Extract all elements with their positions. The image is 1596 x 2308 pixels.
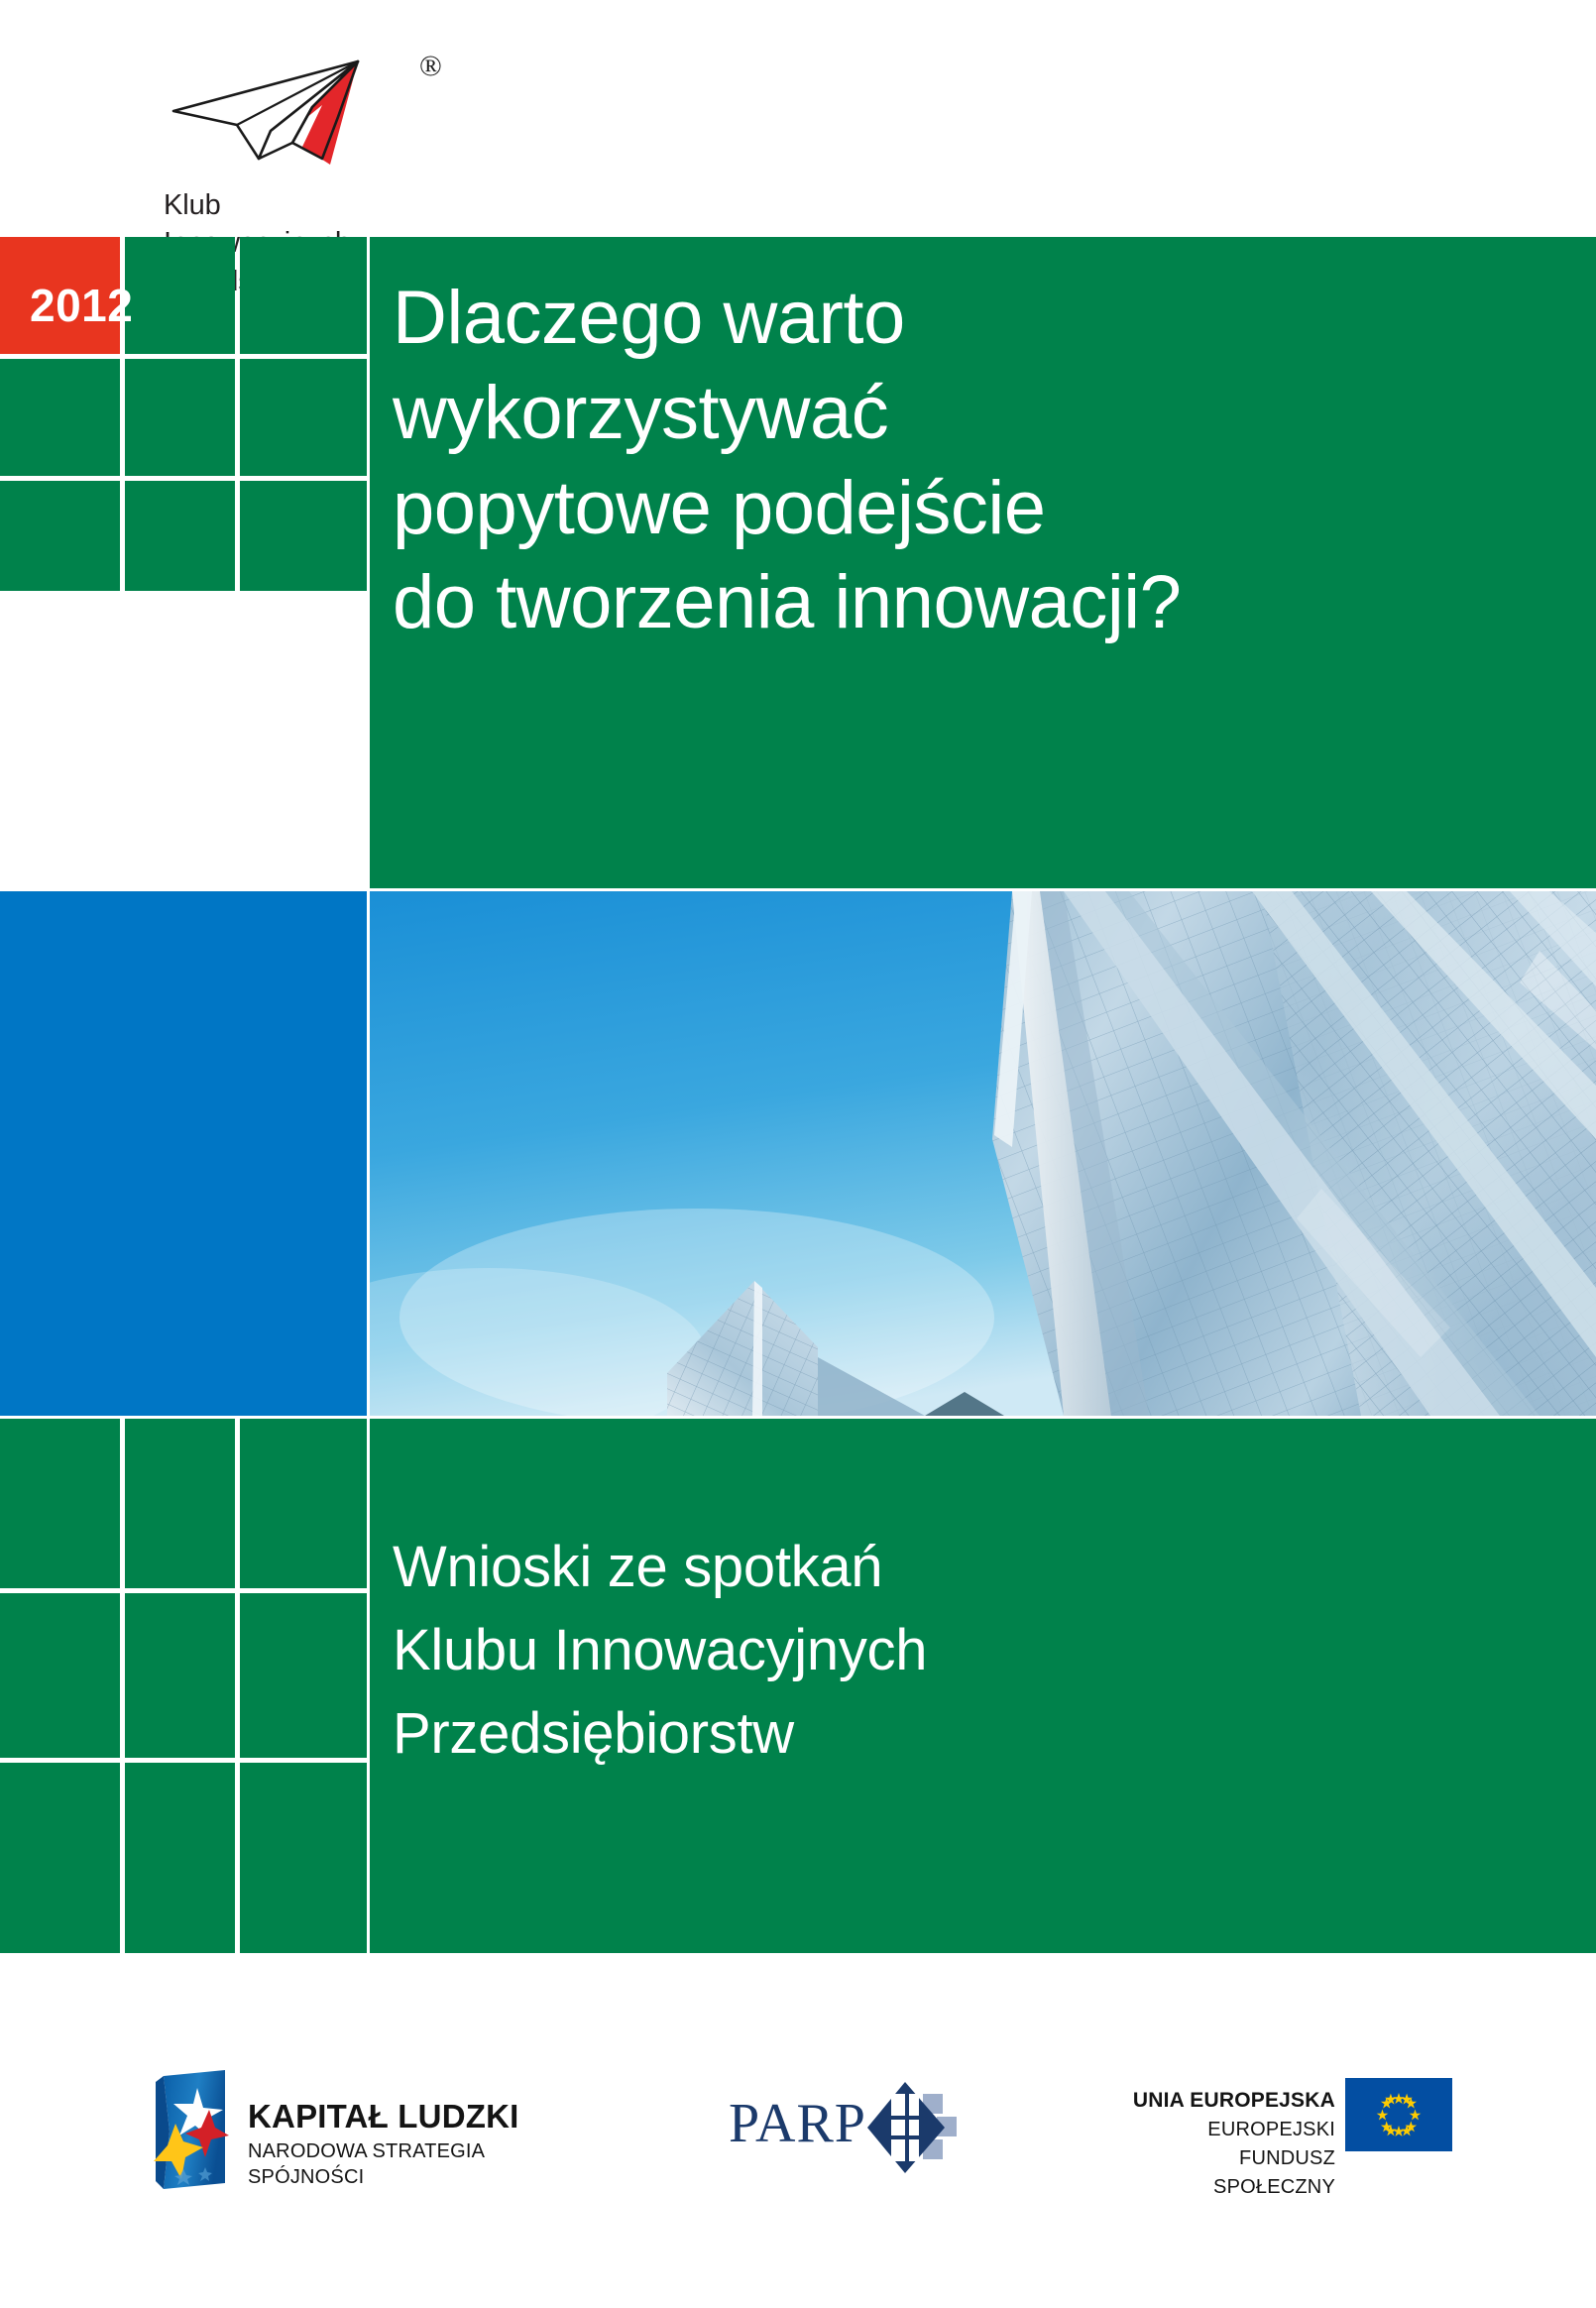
page-title: Dlaczego warto wykorzystywać popytowe po… — [393, 271, 1572, 650]
top-color-grid: 2012 — [0, 237, 367, 888]
bgrid-cell-r1c1 — [0, 1419, 120, 1588]
subtitle-line-3: Przedsiębiorstw — [393, 1692, 1562, 1776]
unia-europejska-line-2: EUROPEJSKI — [1125, 2116, 1335, 2144]
bgrid-cell-r3c3 — [240, 1763, 367, 1953]
registered-trademark-icon: ® — [419, 52, 442, 81]
cover-photo-skyscrapers — [370, 891, 1596, 1416]
blue-accent-block — [0, 891, 367, 1416]
title-line-1: Dlaczego warto — [393, 271, 1572, 366]
page-subtitle: Wnioski ze spotkań Klubu Innowacyjnych P… — [393, 1526, 1562, 1776]
unia-europejska-wordmark: UNIA EUROPEJSKA EUROPEJSKI FUNDUSZ SPOŁE… — [1125, 2086, 1335, 2202]
title-line-4: do tworzenia innowacji? — [393, 555, 1572, 650]
bgrid-cell-r2c3 — [240, 1593, 367, 1758]
subtitle-line-2: Klubu Innowacyjnych — [393, 1609, 1562, 1692]
bgrid-cell-r2c2 — [125, 1593, 235, 1758]
grid-cell-r2c3 — [240, 359, 367, 476]
paper-plane-icon — [164, 48, 421, 176]
subtitle-panel: Wnioski ze spotkań Klubu Innowacyjnych P… — [370, 1419, 1596, 1953]
parp-logo: PARP — [729, 2074, 942, 2183]
title-line-3: popytowe podejście — [393, 461, 1572, 556]
subtitle-line-1: Wnioski ze spotkań — [393, 1526, 1562, 1609]
grid-cell-r2c2 — [125, 359, 235, 476]
title-panel: Dlaczego warto wykorzystywać popytowe po… — [370, 237, 1596, 888]
parp-wordmark: PARP — [729, 2096, 866, 2151]
bgrid-cell-r1c2 — [125, 1419, 235, 1588]
parp-diamond-icon — [867, 2080, 957, 2175]
bgrid-cell-r2c1 — [0, 1593, 120, 1758]
unia-europejska-logo: UNIA EUROPEJSKA EUROPEJSKI FUNDUSZ SPOŁE… — [1125, 2072, 1452, 2191]
eu-flag-stars-icon — [1345, 2078, 1452, 2151]
title-line-2: wykorzystywać — [393, 366, 1572, 461]
bgrid-cell-r3c2 — [125, 1763, 235, 1953]
unia-europejska-line-3: FUNDUSZ SPOŁECZNY — [1125, 2144, 1335, 2202]
unia-europejska-line-1: UNIA EUROPEJSKA — [1125, 2086, 1335, 2116]
bgrid-cell-r1c3 — [240, 1419, 367, 1588]
logo-line-1: Klub — [164, 186, 365, 224]
kapital-ludzki-wordmark: KAPITAŁ LUDZKI NARODOWA STRATEGIA SPÓJNO… — [248, 2100, 570, 2190]
footer-logos: KAPITAŁ LUDZKI NARODOWA STRATEGIA SPÓJNO… — [0, 2032, 1596, 2231]
kapital-ludzki-title: KAPITAŁ LUDZKI — [248, 2100, 570, 2135]
bottom-color-grid — [0, 1419, 367, 1953]
kapital-ludzki-stars-flag-icon — [154, 2070, 231, 2189]
kapital-ludzki-logo: KAPITAŁ LUDZKI NARODOWA STRATEGIA SPÓJNO… — [154, 2070, 570, 2189]
grid-cell-r3c1 — [0, 481, 120, 591]
kapital-ludzki-subtitle: NARODOWA STRATEGIA SPÓJNOŚCI — [248, 2138, 570, 2190]
grid-cell-r2c1 — [0, 359, 120, 476]
year-label: 2012 — [30, 279, 133, 332]
grid-cell-r1c3 — [240, 237, 367, 354]
grid-cell-r3c2 — [125, 481, 235, 591]
bgrid-cell-r3c1 — [0, 1763, 120, 1953]
grid-cell-r1c2 — [125, 237, 235, 354]
grid-cell-r3c3 — [240, 481, 367, 591]
